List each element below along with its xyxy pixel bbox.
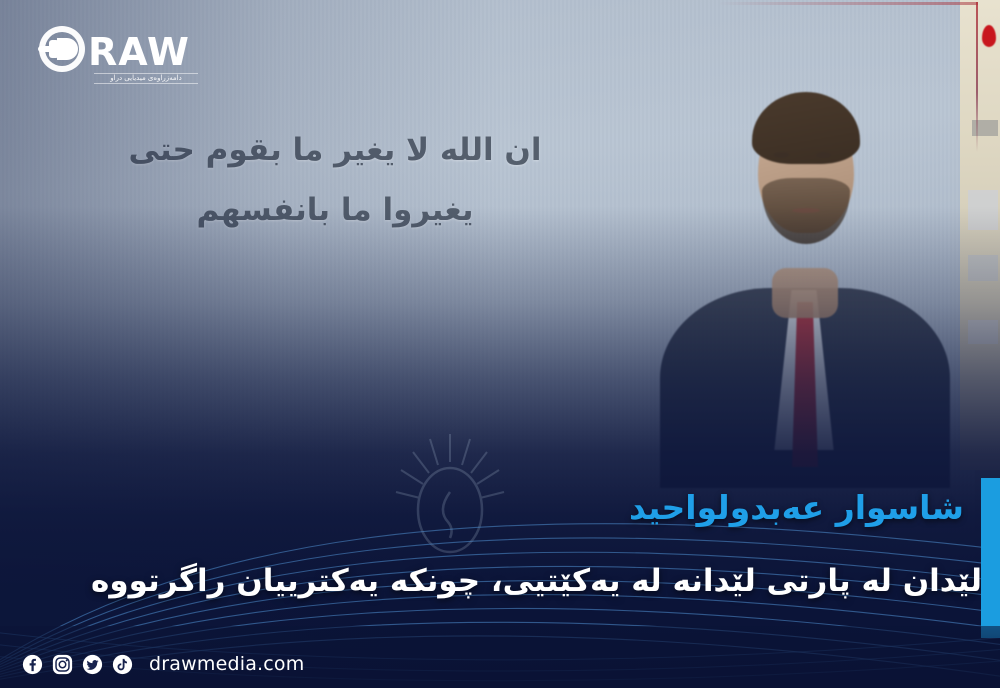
blue-accent-bar	[981, 478, 1000, 638]
tiktok-icon[interactable]	[112, 654, 133, 675]
person-name: شاسوار عەبدولواحید	[629, 488, 964, 527]
twitter-icon[interactable]	[82, 654, 103, 675]
facebook-icon[interactable]	[22, 654, 43, 675]
draw-logo[interactable]: RAW دامەزراوەی میدیایی دراو	[16, 18, 206, 80]
instagram-icon[interactable]	[52, 654, 73, 675]
footer-bar: drawmedia.com	[0, 640, 1000, 688]
svg-text:RAW: RAW	[88, 30, 190, 74]
draw-logo-mark-icon: RAW	[16, 18, 206, 80]
news-graphic-card: ان الله لا يغير ما بقوم حتى يغيروا ما با…	[0, 0, 1000, 688]
website-link[interactable]: drawmedia.com	[149, 653, 304, 675]
draw-logo-subtitle: دامەزراوەی میدیایی دراو	[94, 73, 198, 84]
headline: لێدان لە پارتی لێدانە لە یەکێتیی، چونکە …	[18, 562, 982, 601]
